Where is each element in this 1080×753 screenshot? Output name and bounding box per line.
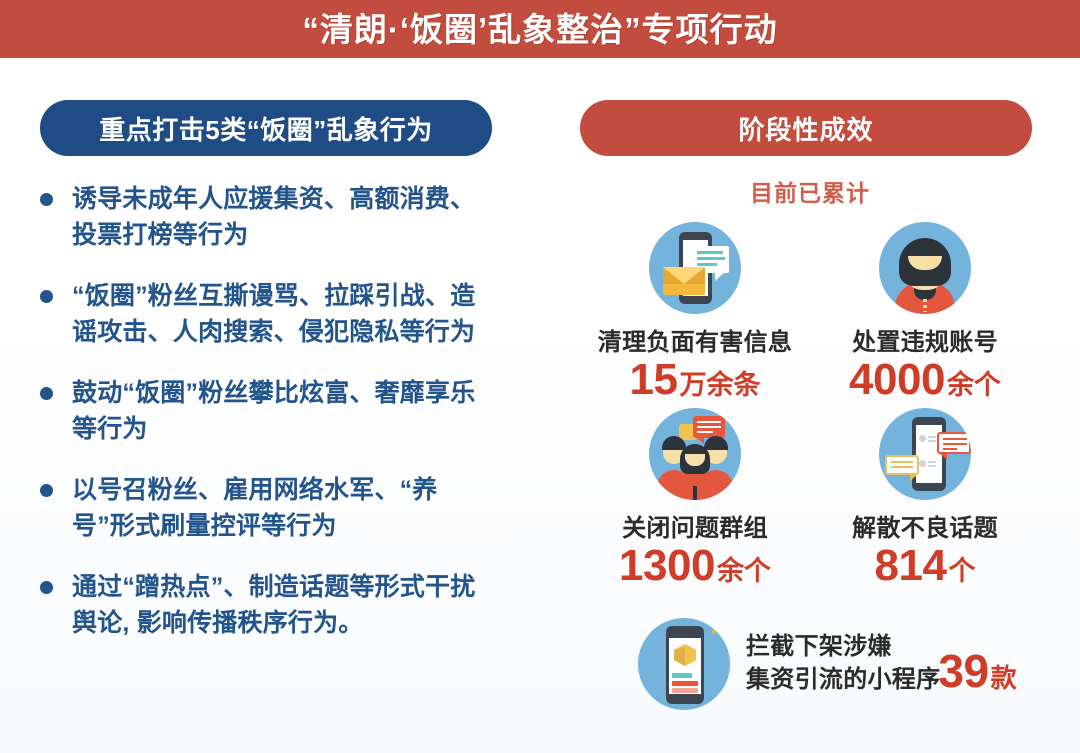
wide-stat-unit: 款 [991,658,1017,695]
wide-stat-text: 拦截下架涉嫌 集资引流的小程序 39 款 [746,630,1017,698]
list-item-text: 鼓动“饭圈”粉丝攀比炫富、奢靡享乐等行为 [72,376,492,447]
list-item-text: 诱导未成年人应援集资、高额消费、投票打榜等行为 [72,182,492,253]
list-item-text: 以号召粉丝、雇用网络水军、“养号”形式刷量控评等行为 [72,473,492,544]
stat-card: 清理负面有害信息 15 万余条 [580,222,810,402]
mini-program-app-icon [638,618,730,710]
wide-stat-card: 拦截下架涉嫌 集资引流的小程序 39 款 [580,618,1070,710]
bullet-dot-icon [40,387,53,400]
stat-unit: 余个 [717,558,771,585]
right-panel-header-label: 阶段性成效 [738,110,873,147]
page-title: “清朗·‘饭圈’乱象整治”专项行动 [302,13,777,46]
header-band: “清朗·‘饭圈’乱象整治”专项行动 [0,0,1080,58]
wide-stat-label: 拦截下架涉嫌 集资引流的小程序 [746,631,940,696]
right-panel-header-pill: 阶段性成效 [580,100,1032,156]
stat-card: 关闭问题群组 1300 余个 [580,408,810,588]
stat-label: 处置违规账号 [852,322,998,357]
bullet-dot-icon [40,290,53,303]
stat-unit: 万余条 [679,372,760,399]
left-panel-header-label: 重点打击5类“饭圈”乱象行为 [99,110,432,147]
wide-stat-number: 39 [938,644,988,698]
list-item: 鼓动“饭圈”粉丝攀比炫富、奢靡享乐等行为 [40,376,510,447]
stat-number: 15 [630,358,678,402]
wide-stat-label-line2: 集资引流的小程序 [746,664,940,697]
left-panel: 重点打击5类“饭圈”乱象行为 诱导未成年人应援集资、高额消费、投票打榜等行为 “… [40,100,510,667]
list-item: 通过“蹭热点”、制造话题等形式干扰舆论, 影响传播秩序行为。 [40,570,510,641]
cumulative-label: 目前已累计 [580,174,1040,208]
stat-label: 清理负面有害信息 [598,322,792,357]
list-item-text: 通过“蹭热点”、制造话题等形式干扰舆论, 影响传播秩序行为。 [72,570,492,641]
bullet-dot-icon [40,581,53,594]
group-chat-icon [649,408,741,500]
stat-label: 关闭问题群组 [622,508,768,543]
stat-number: 4000 [849,358,945,402]
stat-card: 处置违规账号 4000 余个 [810,222,1040,402]
stat-unit: 个 [948,558,975,585]
bullet-dot-icon [40,484,53,497]
right-panel: 阶段性成效 目前已累计 清理负面有害信息 15 万余条 [580,100,1040,594]
list-item: “饭圈”粉丝互撕谩骂、拉踩引战、造谣攻击、人肉搜索、侵犯隐私等行为 [40,279,510,350]
stat-unit: 余个 [947,372,1001,399]
list-item-text: “饭圈”粉丝互撕谩骂、拉踩引战、造谣攻击、人肉搜索、侵犯隐私等行为 [72,279,492,350]
left-panel-header-pill: 重点打击5类“饭圈”乱象行为 [40,100,492,156]
wide-stat-value: 39 款 [938,644,1016,698]
stats-grid: 清理负面有害信息 15 万余条 处置违规账号 4000 [580,222,1040,594]
bullet-dot-icon [40,193,53,206]
stat-number: 1300 [619,544,715,588]
list-item: 诱导未成年人应援集资、高额消费、投票打榜等行为 [40,182,510,253]
infographic-page: “清朗·‘饭圈’乱象整治”专项行动 重点打击5类“饭圈”乱象行为 诱导未成年人应… [0,0,1080,753]
stat-value: 1300 余个 [619,544,771,588]
stat-label: 解散不良话题 [852,508,998,543]
stat-value: 4000 余个 [849,358,1001,402]
phone-message-envelope-icon [649,222,741,314]
phone-chat-bubbles-icon [879,408,971,500]
wide-stat-label-line1: 拦截下架涉嫌 [746,631,940,664]
violation-list: 诱导未成年人应援集资、高额消费、投票打榜等行为 “饭圈”粉丝互撕谩骂、拉踩引战、… [40,182,510,641]
user-avatar-icon [879,222,971,314]
stat-value: 814 个 [875,544,976,588]
stat-card: 解散不良话题 814 个 [810,408,1040,588]
list-item: 以号召粉丝、雇用网络水军、“养号”形式刷量控评等行为 [40,473,510,544]
stat-number: 814 [875,544,947,588]
stat-value: 15 万余条 [630,358,761,402]
